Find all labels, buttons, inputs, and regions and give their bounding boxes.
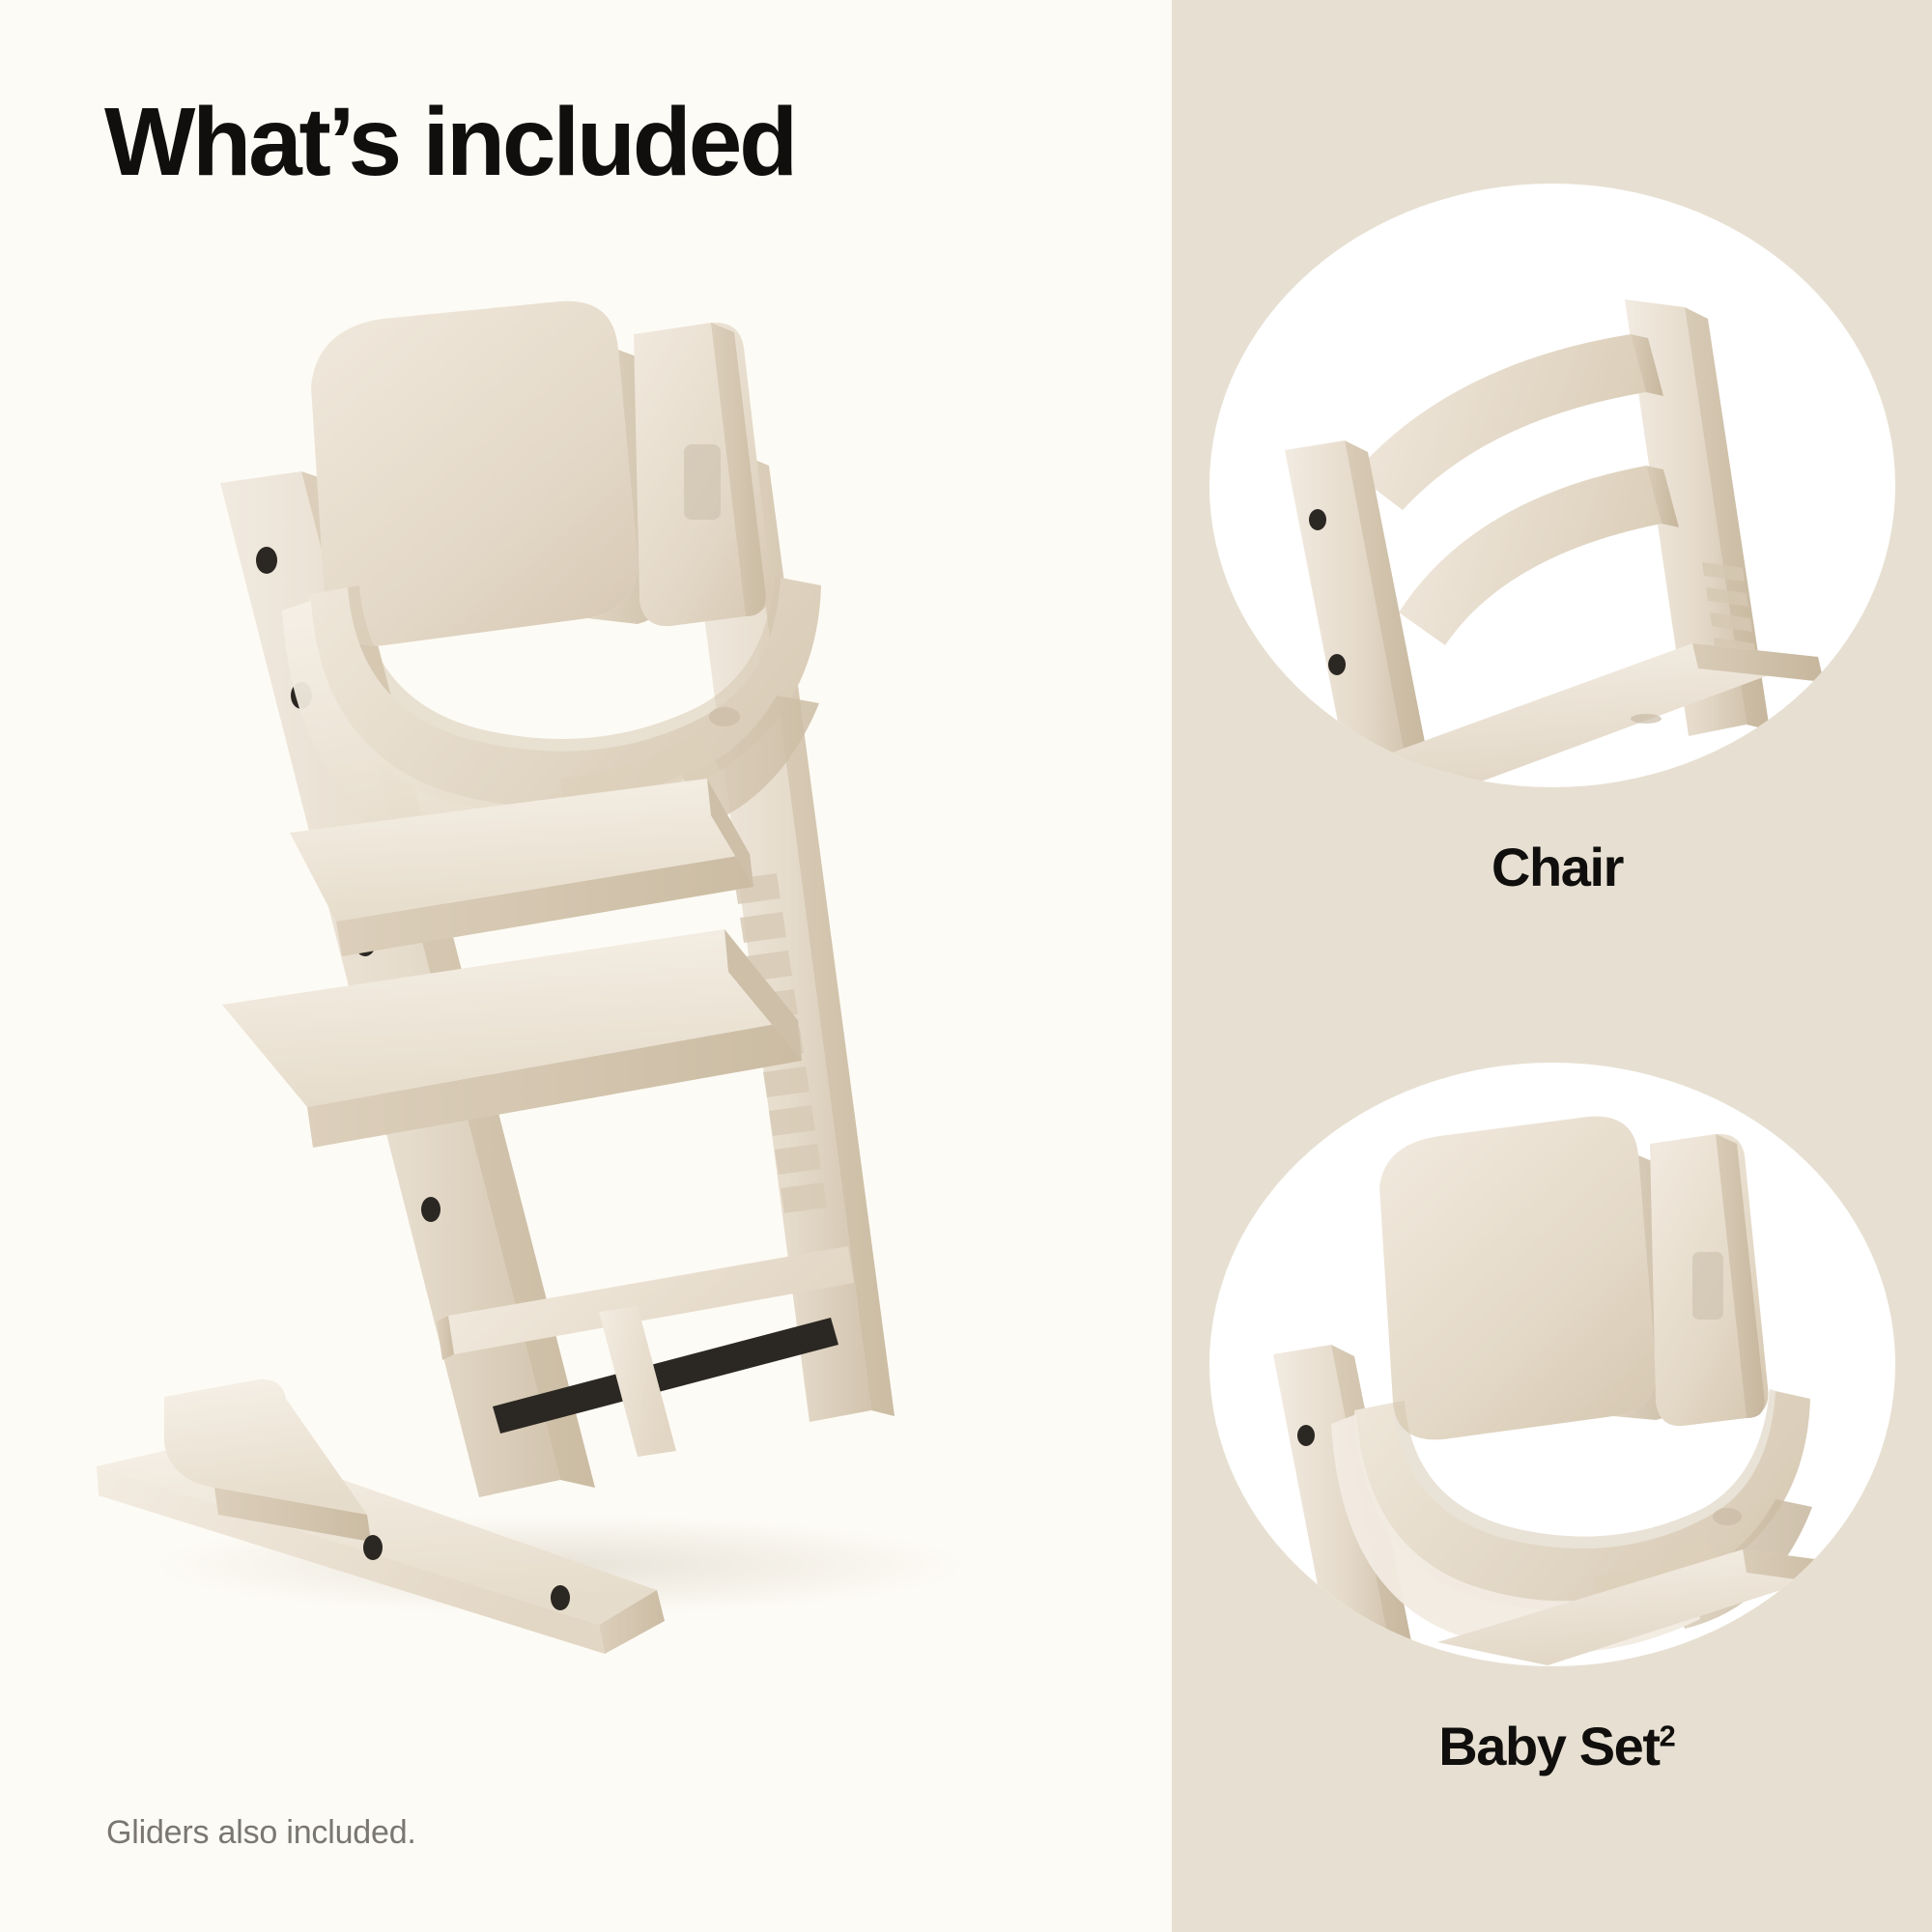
hero-product-image (58, 241, 1121, 1671)
brand-mark (709, 707, 740, 726)
screw-cap (363, 1535, 383, 1560)
card-baby-set-caption-superscript: 2 (1660, 1719, 1676, 1752)
connector-slot (1692, 1252, 1723, 1320)
screw-cap (1309, 509, 1326, 530)
connector-slot (684, 444, 721, 520)
baby-set-closeup-disc (1209, 1063, 1895, 1666)
card-chair: Chair (1209, 184, 1905, 898)
foot-plate-lower (222, 929, 802, 1148)
screw-cap (1328, 654, 1346, 675)
card-baby-set-caption-text: Baby Set (1438, 1716, 1659, 1776)
screw-cap (1319, 1599, 1336, 1620)
chair-closeup-illustration (1209, 184, 1895, 787)
baby-set-backrest (311, 301, 668, 646)
page-title: What’s included (104, 93, 795, 191)
card-baby-set: Baby Set2 (1209, 1063, 1905, 1777)
screw-cap (551, 1585, 570, 1610)
tripp-trapp-chair-illustration (58, 241, 1121, 1671)
screw-cap (421, 1197, 440, 1222)
baby-set-closeup-illustration (1209, 1063, 1895, 1666)
baby-set-side-wing (1650, 1134, 1769, 1426)
baby-set-backrest (1379, 1117, 1683, 1440)
baby-set-side-wing (634, 323, 771, 626)
footnote-gliders: Gliders also included. (106, 1814, 416, 1852)
backrest-slat-lower (1399, 466, 1679, 645)
brand-mark (1631, 714, 1662, 724)
product-included-graphic: What’s included (0, 0, 1932, 1932)
brand-mark (1713, 1508, 1742, 1525)
screw-cap (1297, 1425, 1315, 1446)
screw-cap (256, 547, 277, 574)
card-baby-set-caption: Baby Set2 (1209, 1715, 1905, 1777)
card-chair-caption: Chair (1209, 836, 1905, 898)
chair-closeup-disc (1209, 184, 1895, 787)
card-chair-caption-text: Chair (1492, 837, 1623, 897)
